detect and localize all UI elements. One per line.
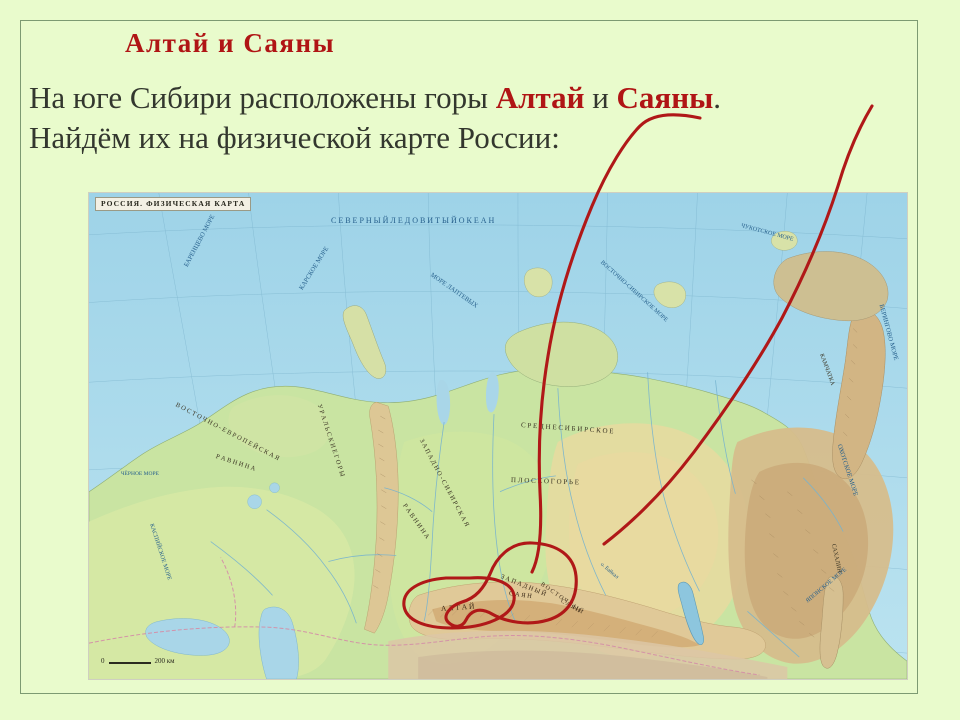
physical-map-of-russia: РОССИЯ. ФИЗИЧЕСКАЯ КАРТА 0200 км С Е В Е… — [88, 192, 908, 680]
scale-zero: 0 — [101, 657, 105, 665]
body-line1-mid: и — [584, 80, 616, 115]
slide: Алтай и Саяны На юге Сибири расположены … — [0, 0, 960, 720]
highlight-altai: Алтай — [496, 80, 585, 115]
highlight-sayany: Саяны — [617, 80, 714, 115]
scale-value: 200 км — [155, 657, 175, 665]
body-line1-suffix: . — [713, 80, 721, 115]
map-scale-bar: 0200 км — [101, 657, 175, 665]
body-line1-prefix: На юге Сибири расположены горы — [29, 80, 496, 115]
body-line-1: На юге Сибири расположены горы Алтай и С… — [29, 80, 721, 115]
body-line-2: Найдём их на физической карте России: — [29, 118, 929, 158]
page-title: Алтай и Саяны — [125, 28, 335, 59]
map-graphic — [89, 193, 907, 679]
body-text: На юге Сибири расположены горы Алтай и С… — [29, 78, 929, 157]
scale-bar-line — [109, 659, 151, 664]
map-title: РОССИЯ. ФИЗИЧЕСКАЯ КАРТА — [95, 197, 251, 211]
